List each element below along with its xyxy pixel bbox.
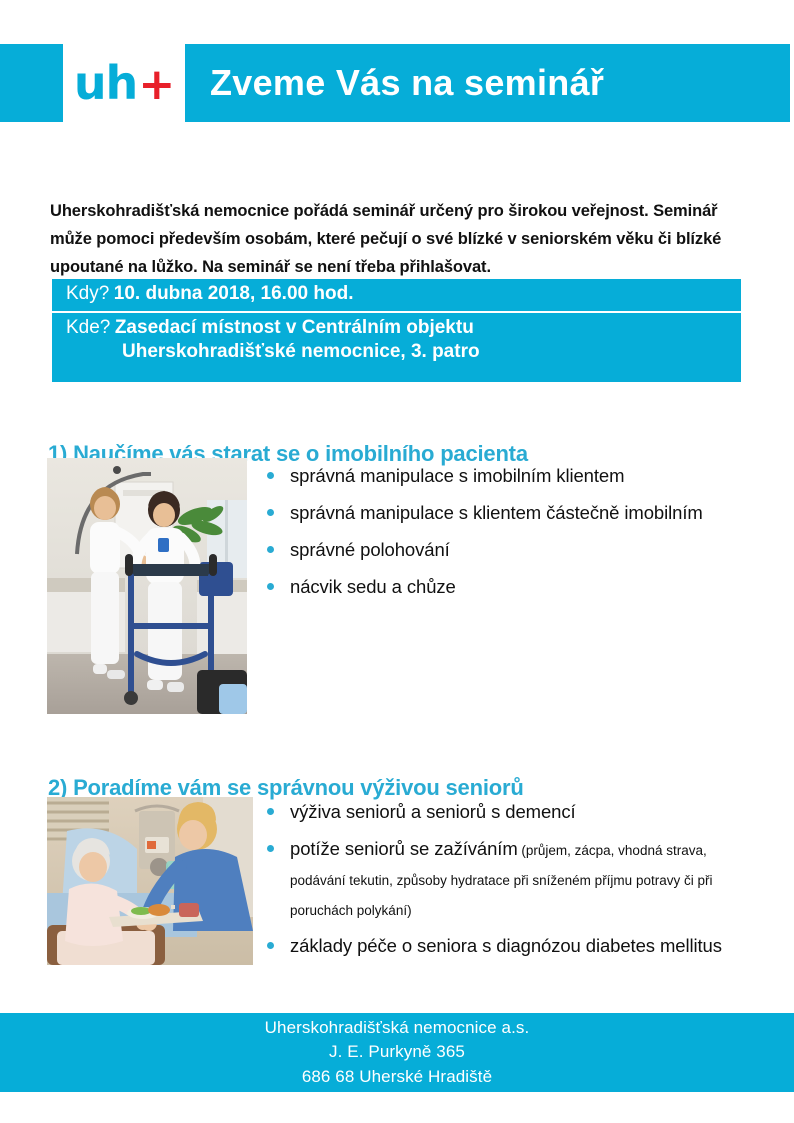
list-item: správné polohování [264, 535, 754, 565]
bullet-list-1: správná manipulace s imobilním klientem … [264, 461, 754, 609]
logo-container: uh+ [63, 44, 185, 122]
logo-text: uh [74, 60, 138, 106]
where-value-line1: Zasedací místnost v Centrálním objektu [115, 317, 474, 338]
bullet-list-2: výživa seniorů a seniorů s demencí potíž… [264, 797, 754, 968]
page-title: Zveme Vás na seminář [210, 62, 604, 104]
bullet-text: správné polohování [290, 539, 450, 560]
list-item: základy péče o seniora s diagnózou diabe… [264, 931, 754, 961]
list-item: potíže seniorů se zažíváním (průjem, zác… [264, 834, 754, 924]
list-item: správná manipulace s imobilním klientem [264, 461, 754, 491]
logo-plus-icon: + [138, 63, 174, 107]
bullet-text: základy péče o seniora s diagnózou diabe… [290, 935, 722, 956]
intro-paragraph: Uherskohradišťská nemocnice pořádá semin… [50, 197, 752, 282]
footer-city: 686 68 Uherské Hradiště [302, 1065, 492, 1090]
list-item: nácvik sedu a chůze [264, 572, 754, 602]
photo-2-illustration [47, 797, 253, 965]
info-box-when: Kdy? 10. dubna 2018, 16.00 hod. [52, 279, 741, 311]
info-box-where: Kde? Zasedací místnost v Centrálním obje… [52, 313, 741, 382]
page-footer: Uherskohradišťská nemocnice a.s. J. E. P… [0, 1013, 794, 1092]
bullet-text: výživa seniorů a seniorů s demencí [290, 801, 576, 822]
when-label: Kdy? [66, 283, 109, 304]
nurse-serving-meal-to-senior-photo [47, 797, 253, 965]
header-accent-block-left [0, 44, 63, 122]
uh-plus-logo: uh+ [74, 60, 174, 107]
bullet-text: potíže seniorů se zažíváním [290, 838, 518, 859]
list-item: výživa seniorů a seniorů s demencí [264, 797, 754, 827]
when-value: 10. dubna 2018, 16.00 hod. [114, 283, 354, 304]
where-label: Kde? [66, 317, 110, 338]
page-header: uh+ Zveme Vás na seminář [0, 44, 790, 122]
list-item: správná manipulace s klientem částečně i… [264, 498, 754, 528]
bullet-text: správná manipulace s klientem částečně i… [290, 502, 703, 523]
bullet-text: správná manipulace s imobilním klientem [290, 465, 624, 486]
photo-1-illustration [47, 458, 247, 714]
bullet-text: nácvik sedu a chůze [290, 576, 456, 597]
footer-organization: Uherskohradišťská nemocnice a.s. [265, 1016, 530, 1041]
footer-street: J. E. Purkyně 365 [329, 1040, 465, 1065]
two-nurses-with-walker-photo [47, 458, 247, 714]
header-title-bar: Zveme Vás na seminář [185, 44, 790, 122]
where-value-line2: Uherskohradišťské nemocnice, 3. patro [122, 341, 741, 363]
